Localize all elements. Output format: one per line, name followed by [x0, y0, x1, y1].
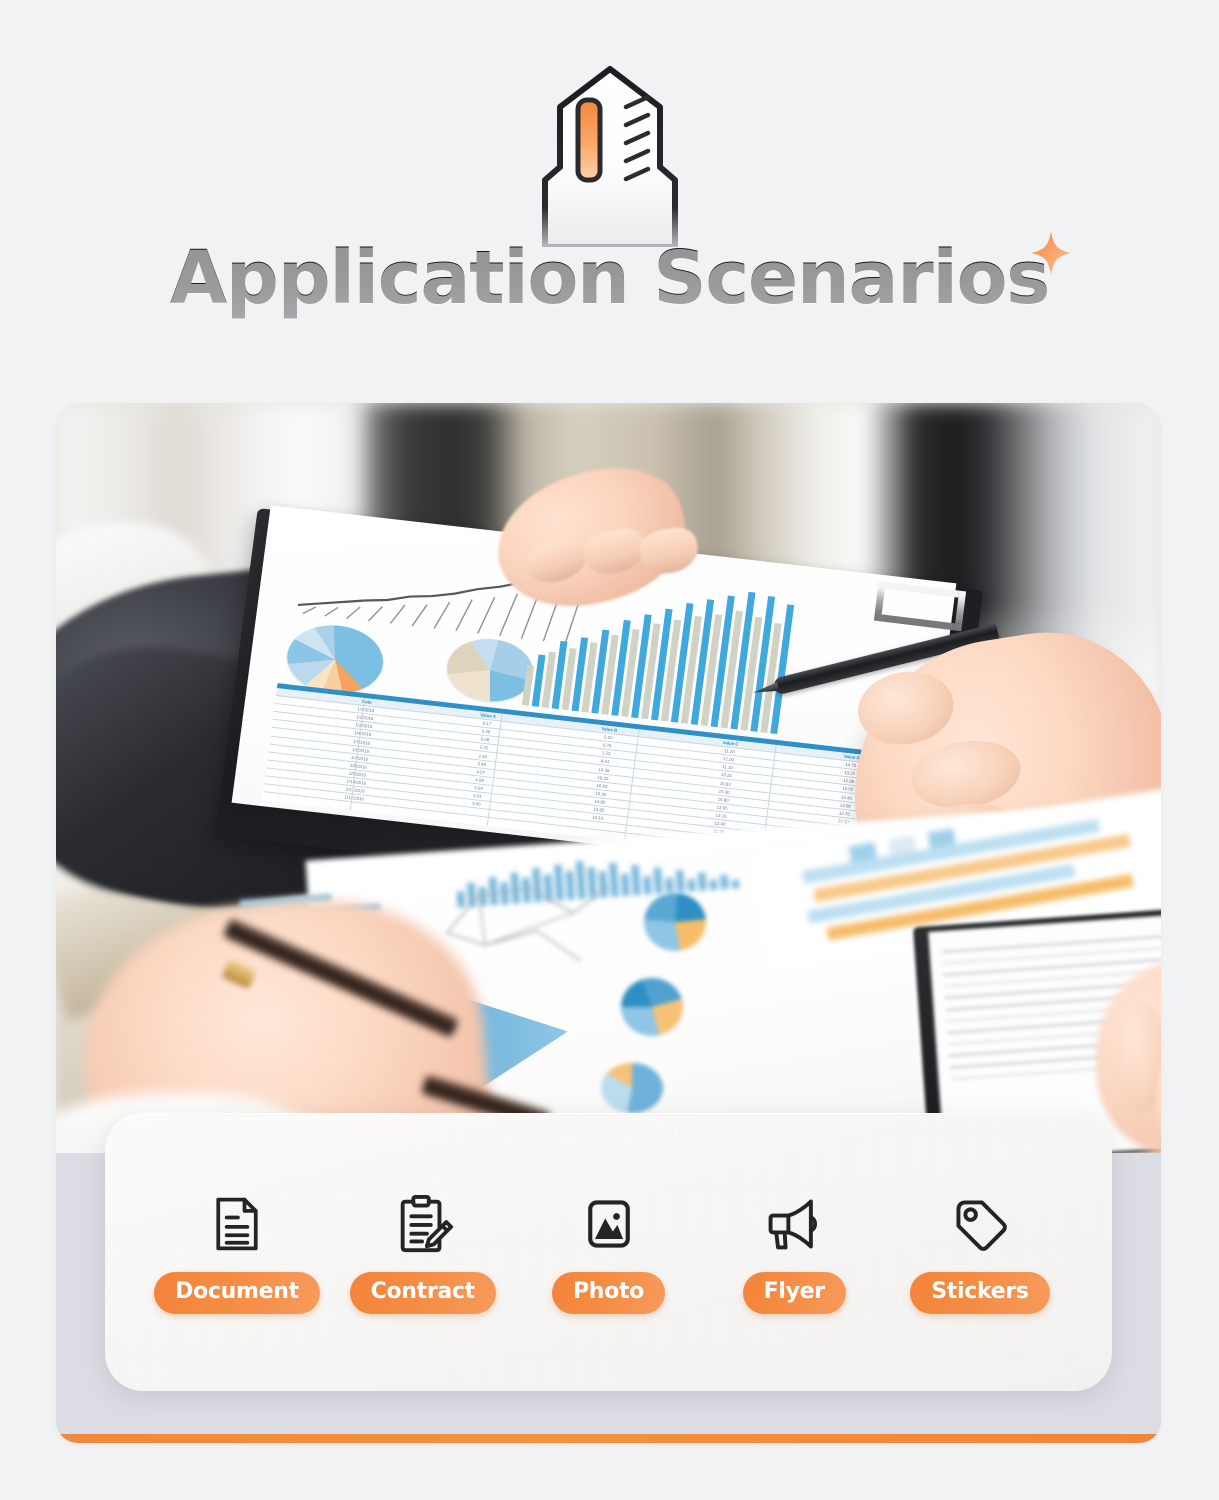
megaphone-icon [761, 1191, 827, 1257]
document-page-icon [204, 1191, 270, 1257]
badge-label[interactable]: Contract [350, 1272, 496, 1314]
desk-paper-network-diagram [441, 873, 621, 973]
desk-paper-pie-1 [644, 893, 706, 951]
page-header: Application Scenarios [0, 0, 1219, 390]
image-photo-icon [576, 1191, 642, 1257]
scenario-card: DateValue AValue BValue CValue D 1/1/201… [56, 403, 1161, 1443]
badge-label[interactable]: Flyer [743, 1272, 846, 1314]
badge-flyer[interactable]: Flyer [706, 1191, 882, 1314]
badge-document[interactable]: Document [149, 1191, 325, 1314]
clipboard-pen-icon [390, 1191, 456, 1257]
badge-stickers[interactable]: Stickers [892, 1191, 1068, 1314]
use-case-badge-panel: Document Contract [105, 1113, 1112, 1391]
price-tag-icon [947, 1191, 1013, 1257]
desk-paper-pie-2 [621, 978, 683, 1036]
badge-contract[interactable]: Contract [335, 1191, 511, 1314]
business-meeting-clipboard-photo: DateValue AValue BValue CValue D 1/1/201… [56, 403, 1161, 1153]
badge-label[interactable]: Photo [552, 1272, 665, 1314]
building-skyscraper-icon [500, 62, 720, 247]
page-title: Application Scenarios [170, 237, 1049, 319]
badge-label[interactable]: Stickers [910, 1272, 1049, 1314]
sparkle-four-point-icon [1030, 230, 1072, 276]
badge-label[interactable]: Document [154, 1272, 320, 1314]
badge-photo[interactable]: Photo [521, 1191, 697, 1314]
desk-paper-pie-3 [601, 1063, 663, 1113]
